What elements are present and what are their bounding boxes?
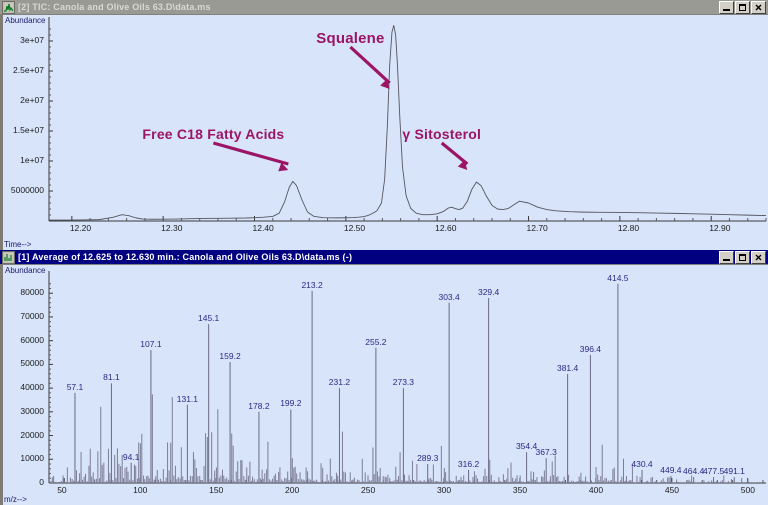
tic-y-tick: 1.5e+07 <box>13 125 44 135</box>
ms-y-tick: 20000 <box>20 430 44 440</box>
ms-y-tick: 60000 <box>20 335 44 345</box>
ms-peak-label: 231.2 <box>329 377 350 387</box>
ms-spectrum-svg <box>3 265 768 505</box>
tic-trace-svg <box>3 15 768 250</box>
ms-y-tick: 0 <box>39 477 44 487</box>
ms-peak-label: 414.5 <box>607 273 628 283</box>
ms-x-tick: 150 <box>209 485 223 495</box>
tic-y-tick: 1e+07 <box>20 155 44 165</box>
tic-annotation-squalene: Squalene <box>316 30 384 47</box>
ms-peak-label: 178.2 <box>248 401 269 411</box>
ms-peak-label: 316.2 <box>458 459 479 469</box>
ms-peak-label: 477.5 <box>703 466 724 476</box>
minimize-button[interactable] <box>719 251 734 264</box>
chromatogram-icon <box>2 1 15 14</box>
ms-peak-label: 329.4 <box>478 287 499 297</box>
ms-x-tick: 350 <box>513 485 527 495</box>
ms-peak-label: 303.4 <box>438 292 459 302</box>
ms-peak-label: 131.1 <box>177 394 198 404</box>
ms-y-tick: 40000 <box>20 382 44 392</box>
tic-x-tick: 12.40 <box>253 223 274 233</box>
tic-x-tick: 12.60 <box>435 223 456 233</box>
mass-spectrum-window[interactable]: [1] Average of 12.625 to 12.630 min.: Ca… <box>0 250 768 505</box>
tic-y-tick: 2e+07 <box>20 95 44 105</box>
ms-peak-label: 159.2 <box>219 351 240 361</box>
ms-peak-label: 381.4 <box>557 363 578 373</box>
ms-y-tick: 10000 <box>20 453 44 463</box>
ms-peak-label: 491.1 <box>724 466 745 476</box>
close-button[interactable] <box>751 1 766 14</box>
ms-peak-label: 289.3 <box>417 453 438 463</box>
ms-y-tick: 50000 <box>20 358 44 368</box>
ms-peak-label: 94.1 <box>123 452 140 462</box>
ms-peak-label: 255.2 <box>365 337 386 347</box>
ms-window-title: [1] Average of 12.625 to 12.630 min.: Ca… <box>18 252 715 262</box>
ms-peak-label: 57.1 <box>67 382 84 392</box>
ms-peak-label: 354.4 <box>516 441 537 451</box>
tic-window-buttons <box>719 1 766 14</box>
ms-x-tick: 200 <box>285 485 299 495</box>
tic-annotation-gamma-sitosterol: γ Sitosterol <box>402 126 481 142</box>
tic-y-tick: 5000000 <box>11 185 44 195</box>
tic-annotation-free-c18-fatty-acids: Free C18 Fatty Acids <box>142 126 284 142</box>
ms-y-tick: 80000 <box>20 287 44 297</box>
maximize-button[interactable] <box>735 1 750 14</box>
tic-plot-area[interactable]: Abundance Time--> 50000001e+071.5e+072e+… <box>3 15 768 250</box>
tic-y-tick: 3e+07 <box>20 35 44 45</box>
ms-window-buttons <box>719 251 766 264</box>
ms-x-tick: 500 <box>741 485 755 495</box>
ms-x-tick: 250 <box>361 485 375 495</box>
ms-plot-area[interactable]: Abundance m/z--> 01000020000300004000050… <box>3 265 768 505</box>
spectrum-icon <box>2 251 15 264</box>
ms-peak-label: 464.4 <box>683 466 704 476</box>
ms-x-tick: 300 <box>437 485 451 495</box>
minimize-button[interactable] <box>719 1 734 14</box>
ms-window-titlebar[interactable]: [1] Average of 12.625 to 12.630 min.: Ca… <box>0 250 768 264</box>
ms-peak-label: 81.1 <box>103 372 120 382</box>
ms-peak-label: 367.3 <box>536 447 557 457</box>
tic-window-title: [2] TIC: Canola and Olive Oils 63.D\data… <box>18 2 715 12</box>
ms-peak-label: 273.3 <box>393 377 414 387</box>
close-button[interactable] <box>751 251 766 264</box>
ms-peak-label: 449.4 <box>660 465 681 475</box>
ms-peak-label: 107.1 <box>140 339 161 349</box>
tic-x-tick: 12.70 <box>527 223 548 233</box>
ms-y-tick: 30000 <box>20 406 44 416</box>
tic-x-tick: 12.80 <box>618 223 639 233</box>
ms-peak-label: 145.1 <box>198 313 219 323</box>
tic-x-tick: 12.30 <box>161 223 182 233</box>
maximize-button[interactable] <box>735 251 750 264</box>
ms-x-tick: 450 <box>665 485 679 495</box>
tic-x-tick: 12.50 <box>344 223 365 233</box>
ms-x-tick: 50 <box>57 485 66 495</box>
ms-peak-label: 430.4 <box>631 459 652 469</box>
ms-plot-frame: Abundance m/z--> 01000020000300004000050… <box>0 264 768 505</box>
ms-peak-label: 199.2 <box>280 398 301 408</box>
ms-peak-label: 213.2 <box>301 280 322 290</box>
ms-x-tick: 100 <box>133 485 147 495</box>
tic-y-tick: 2.5e+07 <box>13 65 44 75</box>
ms-y-tick: 70000 <box>20 311 44 321</box>
tic-x-tick: 12.20 <box>70 223 91 233</box>
tic-plot-frame: Abundance Time--> 50000001e+071.5e+072e+… <box>0 14 768 250</box>
tic-x-tick: 12.90 <box>709 223 730 233</box>
application-window: [2] TIC: Canola and Olive Oils 63.D\data… <box>0 0 768 505</box>
tic-window-titlebar[interactable]: [2] TIC: Canola and Olive Oils 63.D\data… <box>0 0 768 14</box>
ms-x-tick: 400 <box>589 485 603 495</box>
ms-peak-label: 396.4 <box>580 344 601 354</box>
tic-chromatogram-window[interactable]: [2] TIC: Canola and Olive Oils 63.D\data… <box>0 0 768 250</box>
